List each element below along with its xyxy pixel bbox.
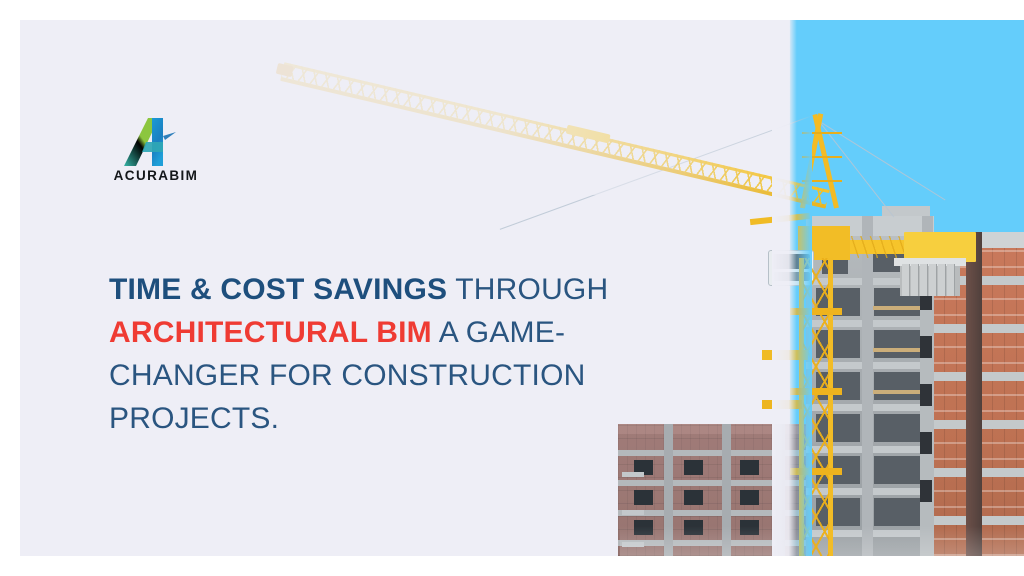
counterweight-block [902, 264, 910, 296]
timber-formwork [872, 306, 922, 310]
banner-canvas: ACURABIM TIME & COST SAVINGS THROUGH ARC… [0, 0, 1024, 576]
panel-photo-blend [772, 20, 812, 556]
counterweight-block [929, 264, 937, 296]
open-floor-bay [874, 372, 922, 400]
counterweight-block [947, 264, 955, 296]
window-opening [740, 490, 759, 505]
counterweight-block [911, 264, 919, 296]
page-title: TIME & COST SAVINGS THROUGH ARCHITECTURA… [109, 268, 709, 440]
open-floor-bay [874, 330, 922, 358]
column [862, 216, 873, 556]
window-opening [920, 384, 932, 406]
window-opening [684, 460, 703, 475]
counterweight-block [938, 264, 946, 296]
balcony [622, 510, 644, 515]
window-opening [684, 490, 703, 505]
service-shaft [966, 232, 982, 556]
acurabim-a-mark-icon [116, 116, 192, 168]
window-opening [920, 432, 932, 454]
headline-segment-accent: ARCHITECTURAL BIM [109, 316, 432, 349]
balcony [622, 472, 644, 477]
crane-counterweight [900, 264, 960, 296]
window-opening [920, 336, 932, 358]
window-opening [920, 480, 932, 502]
brand-wordmark: ACURABIM [108, 168, 204, 183]
brand-logo[interactable]: ACURABIM [108, 116, 204, 190]
headline-segment-regular: THROUGH [447, 273, 608, 306]
window-opening [740, 460, 759, 475]
window-opening [634, 490, 653, 505]
open-floor-bay [874, 456, 922, 484]
timber-formwork [872, 348, 922, 352]
counterweight-block [920, 264, 928, 296]
headline-segment-bold: TIME & COST SAVINGS [109, 273, 447, 306]
jib-fade-overlay [270, 45, 790, 195]
banner-card: ACURABIM TIME & COST SAVINGS THROUGH ARC… [20, 20, 1024, 556]
open-floor-bay [874, 414, 922, 442]
timber-formwork [872, 390, 922, 394]
open-floor-bay [874, 498, 922, 526]
